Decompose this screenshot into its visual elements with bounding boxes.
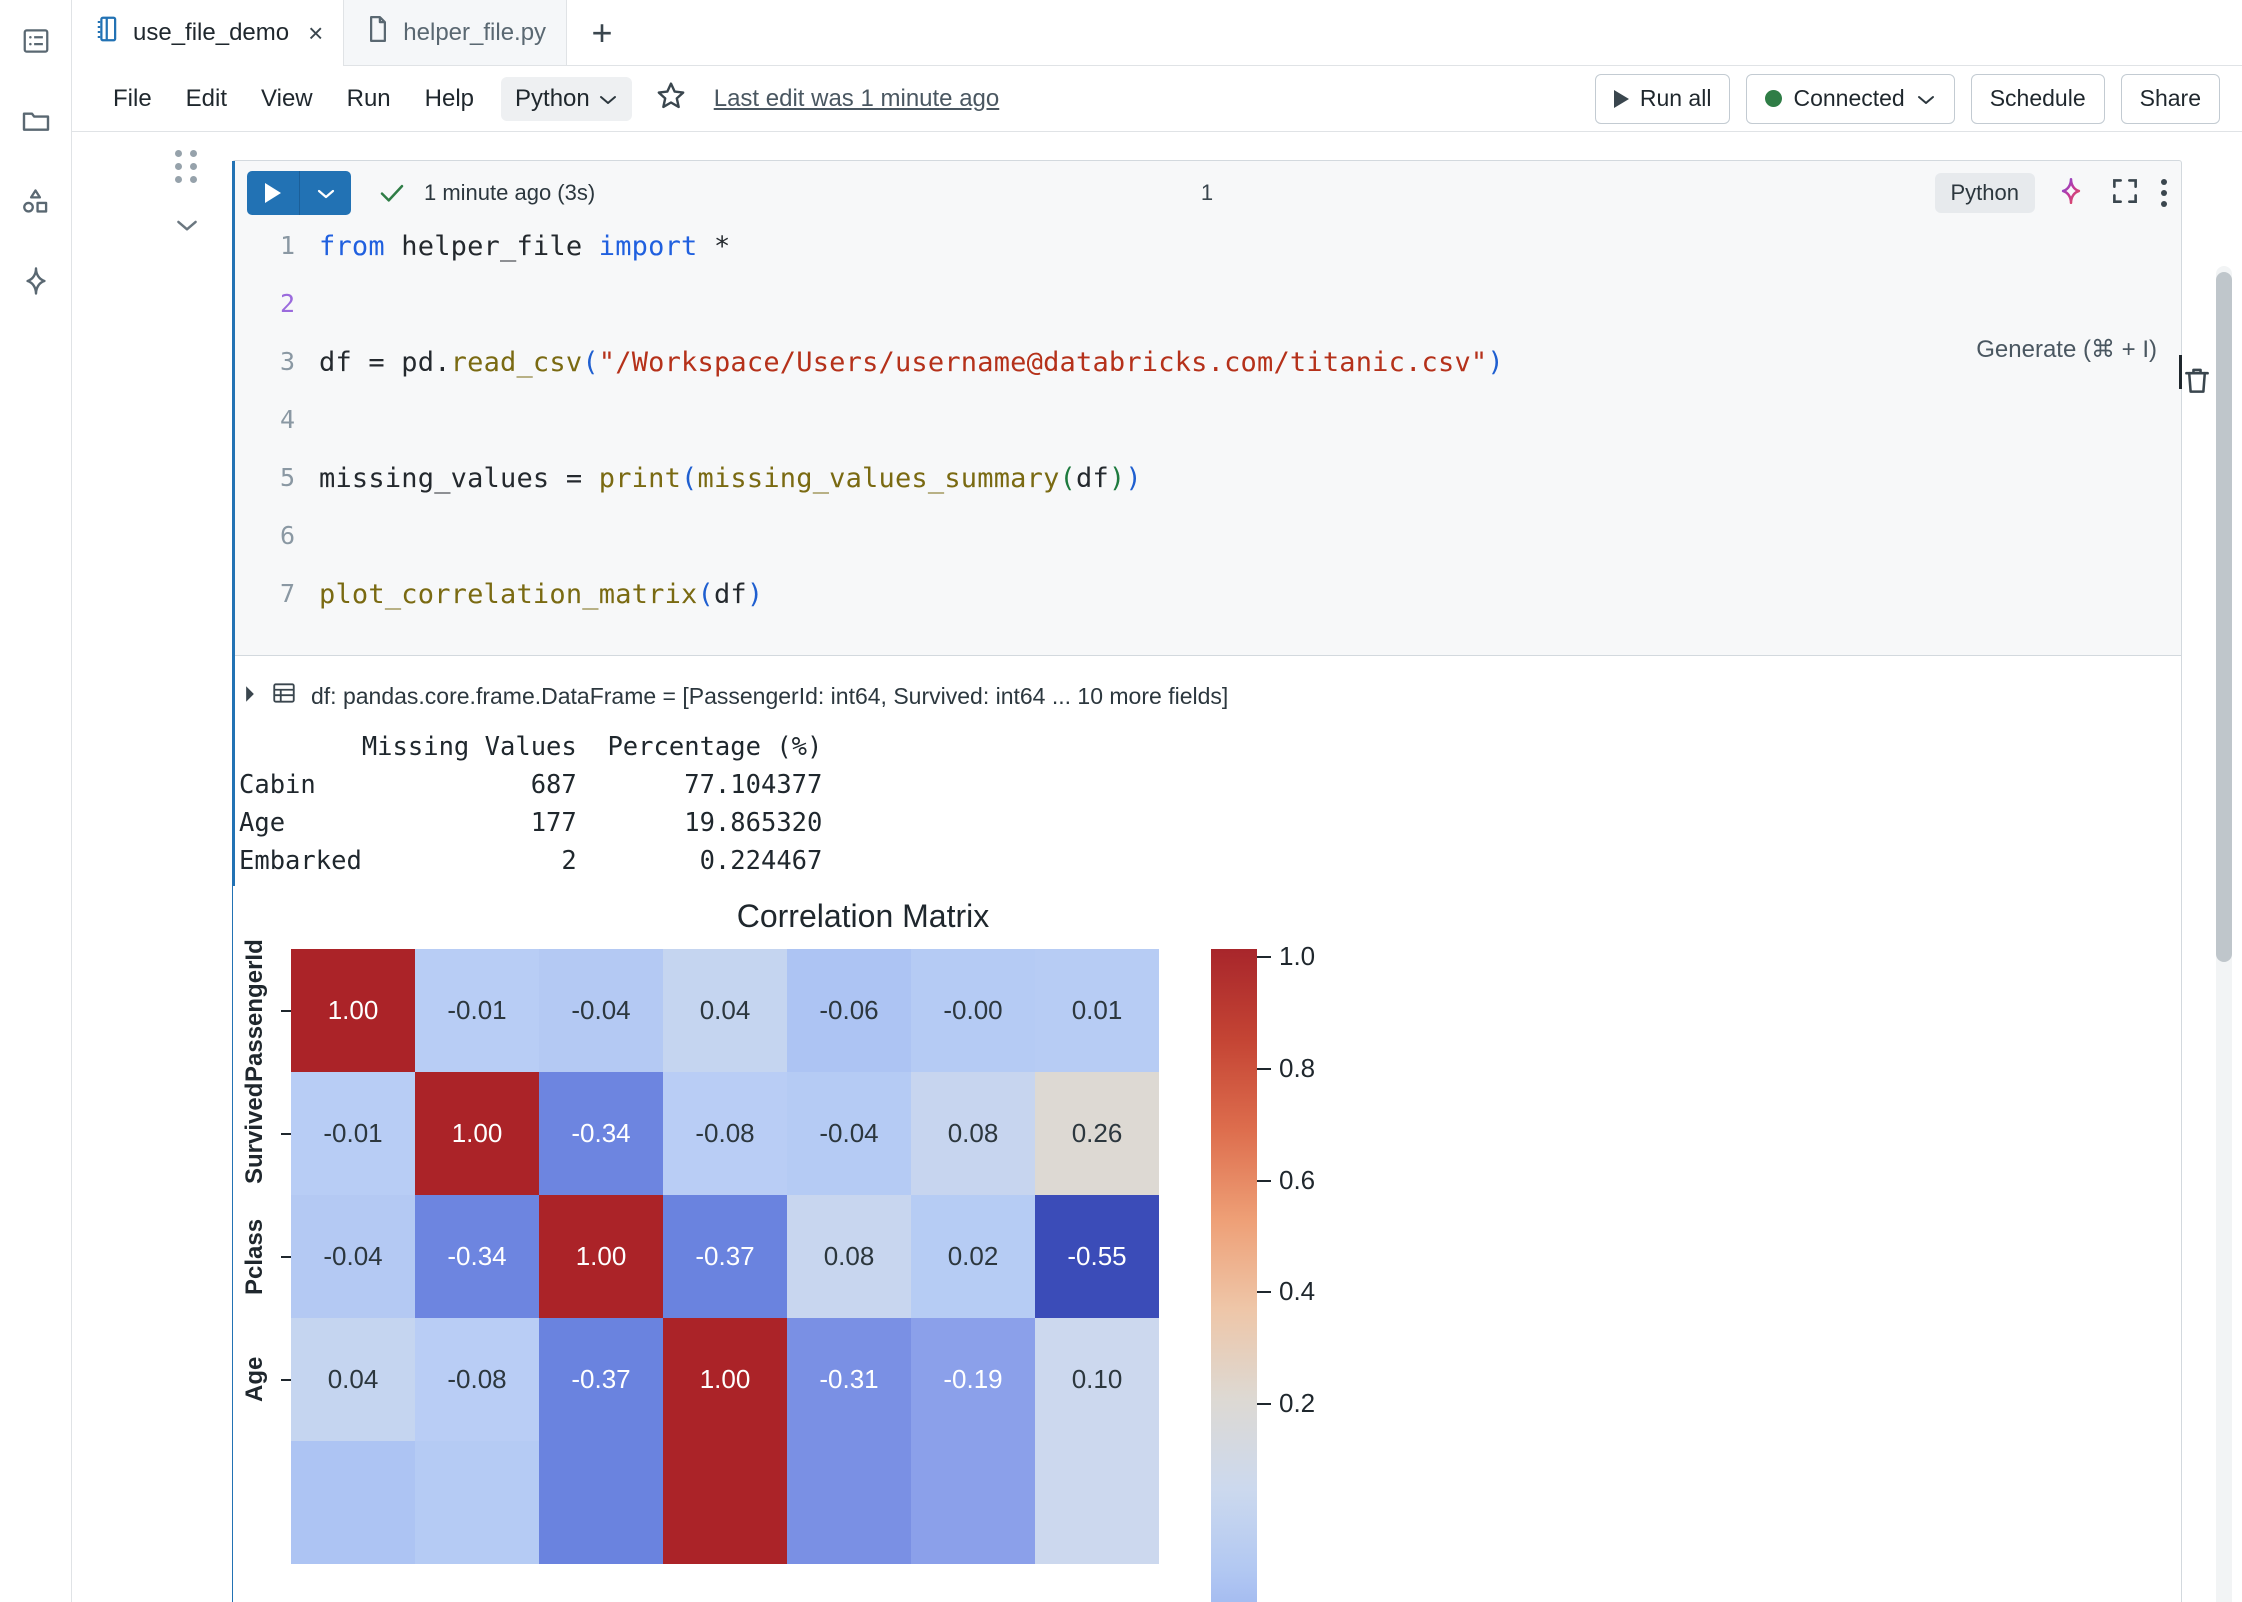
heatmap-cell: -0.00 [911,949,1035,1072]
colorbar-tick: 1.0 [1257,941,1315,972]
line-number: 4 [233,405,319,434]
share-label: Share [2140,85,2201,112]
workspace-list-icon [21,26,51,56]
heatmap-cell: 1.00 [539,1195,663,1318]
line-number: 7 [233,579,319,608]
heatmap-cell: -0.55 [1035,1195,1159,1318]
heatmap-cell: -0.04 [539,949,663,1072]
heatmap-cell: -0.01 [291,1072,415,1195]
colorbar-tick-label: 1.0 [1279,941,1315,972]
heatmap-cell-value: -0.04 [819,1118,878,1149]
cell-header: 1 minute ago (3s) 1 Python [233,161,2181,225]
heatmap-cell-value: -0.01 [323,1118,382,1149]
expand-cell-button[interactable] [2107,175,2143,211]
colorbar-wrapper: 1.0 0.8 0. [1211,949,1367,1602]
heatmap-cell: -0.34 [415,1195,539,1318]
success-check-icon [377,178,407,208]
heatmap-cell-value: 0.10 [1072,1364,1123,1395]
heatmap-cell-value: 1.00 [328,995,379,1026]
notebook-inner: 1 minute ago (3s) 1 Python [72,132,2242,1602]
heatmap-cell: -0.37 [663,1195,787,1318]
heatmap-cell: 0.01 [1035,949,1159,1072]
schedule-button[interactable]: Schedule [1971,74,2105,124]
line-number: 2 [233,289,319,318]
colorbar-tick: 0.4 [1257,1276,1315,1307]
y-tick-mark [281,1133,291,1135]
cell-output: df: pandas.core.frame.DataFrame = [Passe… [233,656,2181,1602]
rail-item-workspace[interactable] [13,18,59,64]
heatmap-cell-value: -0.34 [447,1241,506,1272]
colorbar-tick-mark [1257,1180,1271,1182]
tab-label: use_file_demo [133,19,289,47]
line-number: 5 [233,463,319,492]
run-options-button[interactable] [299,171,351,215]
assistant-sparkle-button[interactable] [2053,175,2089,211]
code-line: 4 [233,405,2181,463]
cell-more-menu-button[interactable] [2161,179,2167,207]
heatmap-cell: -0.34 [539,1072,663,1195]
colorbar-tick-label: 0.4 [1279,1276,1315,1307]
heatmap-cell: -0.08 [663,1072,787,1195]
colorbar-gradient [1211,949,1257,1602]
menu-file[interactable]: File [96,77,169,121]
menu-help[interactable]: Help [408,77,491,121]
heatmap-cell-value: 0.04 [700,995,751,1026]
heatmap-cell-value: -0.00 [943,995,1002,1026]
chart-title: Correlation Matrix [233,898,1493,935]
heatmap-cell: 0.10 [1035,1318,1159,1441]
tab-label: helper_file.py [403,19,546,47]
heatmap-cell-value: 1.00 [576,1241,627,1272]
tab-helper-file-py[interactable]: helper_file.py [344,0,567,65]
cell-wrapper: 1 minute ago (3s) 1 Python [72,160,2242,1602]
heatmap-cell: -0.08 [415,1318,539,1441]
rail-item-assistant[interactable] [13,258,59,304]
colorbar-tick-mark [1257,1403,1271,1405]
code-text: df = pd.read_csv("/Workspace/Users/usern… [319,347,1504,378]
heatmap-cell [539,1441,663,1564]
rail-item-catalog[interactable] [13,98,59,144]
heatmap-cell: 0.02 [911,1195,1035,1318]
heatmap-cell-value: -0.31 [819,1364,878,1395]
heatmap-cell-value: -0.01 [447,995,506,1026]
delete-cell-button[interactable] [2180,364,2214,403]
heatmap-cell: -0.06 [787,949,911,1072]
heatmap-cell: -0.31 [787,1318,911,1441]
heatmap-grid: 1.00 -0.01 -0.04 0.04 -0.06 -0.00 0.01 [291,949,1159,1564]
star-icon [654,79,688,118]
expand-caret-icon[interactable] [243,685,257,708]
heatmap-cell [1035,1441,1159,1564]
heatmap-cell: -0.01 [415,949,539,1072]
colorbar-ticks: 1.0 0.8 0. [1257,949,1367,1602]
heatmap-cell [415,1441,539,1564]
dataframe-summary-text: df: pandas.core.frame.DataFrame = [Passe… [311,683,1228,710]
colorbar-tick-mark [1257,956,1271,958]
heatmap-cell-value: 0.04 [328,1364,379,1395]
databricks-notebook-window: use_file_demo × helper_file.py + File Ed… [0,0,2242,1602]
close-icon[interactable]: × [308,20,323,46]
run-all-button[interactable]: Run all [1595,74,1731,124]
last-edit-link[interactable]: Last edit was 1 minute ago [714,85,1000,113]
heatmap-cell: 1.00 [663,1318,787,1441]
main-area: use_file_demo × helper_file.py + File Ed… [72,0,2242,1602]
cluster-selector[interactable]: Connected [1746,74,1954,124]
menu-bar: File Edit View Run Help Python Last edit… [72,66,2242,132]
code-line: 3 df = pd.read_csv("/Workspace/Users/use… [233,347,2181,405]
menu-edit[interactable]: Edit [169,77,244,121]
heatmap-cell [787,1441,911,1564]
heatmap-cell: 0.08 [787,1195,911,1318]
y-tick-mark [281,1379,291,1381]
folder-icon [20,105,52,137]
heatmap-cell-value: -0.37 [571,1364,630,1395]
language-label: Python [515,85,590,113]
code-text: from helper_file import * [319,231,730,262]
left-rail [0,0,72,1602]
code-text: plot_correlation_matrix(df) [319,579,763,610]
heatmap-cell: -0.19 [911,1318,1035,1441]
heatmap-cell-value: -0.08 [447,1364,506,1395]
y-tick-mark [281,1010,291,1012]
expand-icon [2110,176,2140,211]
heatmap-cell [291,1441,415,1564]
heatmap-cell: 0.04 [663,949,787,1072]
code-line: 5 missing_values = print(missing_values_… [233,463,2181,521]
status-dot-icon [1765,90,1782,107]
play-icon [265,183,281,203]
code-line: 6 [233,521,2181,579]
run-cell-group [247,171,351,215]
correlation-matrix-chart: Correlation Matrix PassengerId Survived … [233,886,2181,1602]
heatmap-cell-value: 0.08 [824,1241,875,1272]
run-cell-button[interactable] [247,171,299,215]
heatmap-cell-value: -0.04 [571,995,630,1026]
y-tick-label: Age [233,1318,277,1441]
heatmap-cell-value: -0.08 [695,1118,754,1149]
y-tick-mark [281,1256,291,1258]
colorbar-tick-mark [1257,1068,1271,1070]
code-line: 2 [233,289,2181,347]
new-tab-button[interactable]: + [567,0,637,65]
menu-view[interactable]: View [244,77,330,121]
line-number: 3 [233,347,319,376]
tab-strip: use_file_demo × helper_file.py + [72,0,2242,66]
heatmap-cell: -0.04 [291,1195,415,1318]
colorbar-tick: 0.2 [1257,1388,1315,1419]
cell-status-text: 1 minute ago (3s) [424,180,595,206]
heatmap-wrapper: PassengerId Survived Pclass Age [233,949,2181,1602]
code-text: missing_values = print(missing_values_su… [319,463,1142,494]
heatmap-cell [911,1441,1035,1564]
heatmap-cell: 0.08 [911,1072,1035,1195]
file-icon [366,14,390,51]
vertical-scrollbar-thumb[interactable] [2216,272,2232,962]
heatmap-cell: -0.04 [787,1072,911,1195]
table-icon [271,680,297,712]
heatmap-cell: -0.37 [539,1318,663,1441]
y-tick-label: Survived [233,1072,277,1195]
colorbar-tick: 0.8 [1257,1053,1315,1084]
heatmap-cell-value: -0.37 [695,1241,754,1272]
colorbar-tick-mark [1257,1291,1271,1293]
favorite-button[interactable] [654,79,688,118]
heatmap-cell-value: -0.55 [1067,1241,1126,1272]
chevron-down-icon [1916,85,1936,112]
heatmap-cell-value: -0.04 [323,1241,382,1272]
code-editor[interactable]: Generate (⌘ + I) 1 from helper_file impo… [233,225,2181,655]
cell-header-actions: Python [1935,173,2168,213]
play-icon [1614,90,1629,108]
heatmap-cell-value: 0.01 [1072,995,1123,1026]
heatmap-cell-value: 0.26 [1072,1118,1123,1149]
code-line: 1 from helper_file import * [233,231,2181,289]
notebook-icon [94,14,120,51]
run-all-label: Run all [1640,85,1712,112]
generate-hint-label[interactable]: Generate (⌘ + I) [1976,335,2157,364]
cell-language-chip[interactable]: Python [1935,173,2036,213]
colorbar-tick-label: 0.6 [1279,1165,1315,1196]
notebook-canvas: 1 minute ago (3s) 1 Python [72,132,2242,1602]
tab-use-file-demo[interactable]: use_file_demo × [72,0,344,65]
colorbar-tick-label: 0.8 [1279,1053,1315,1084]
vertical-scrollbar-track[interactable] [2216,266,2232,1602]
y-tick-label: PassengerId [233,949,277,1072]
menu-run[interactable]: Run [330,77,408,121]
heatmap-cell: 1.00 [291,949,415,1072]
heatmap-cell-value: -0.19 [943,1364,1002,1395]
heatmap-cell-value: 1.00 [452,1118,503,1149]
rail-item-experiments[interactable] [13,178,59,224]
line-number: 6 [233,521,319,550]
stdout-text: Missing Values Percentage (%) Cabin 687 … [233,722,2181,886]
heatmap-cell [663,1441,787,1564]
line-number: 1 [233,231,319,260]
chevron-down-icon [598,85,618,113]
heatmap-cell: 0.04 [291,1318,415,1441]
heatmap-cell-value: 1.00 [700,1364,751,1395]
heatmap-cell-value: 0.02 [948,1241,999,1272]
notebook-cell[interactable]: 1 minute ago (3s) 1 Python [232,160,2182,1602]
heatmap-cell-value: -0.34 [571,1118,630,1149]
heatmap-cell: 1.00 [415,1072,539,1195]
shapes-icon [20,186,51,217]
colorbar-tick: 0.6 [1257,1165,1315,1196]
cluster-label: Connected [1793,85,1904,112]
sparkle-icon [2055,175,2087,212]
y-tick-label: Pclass [233,1195,277,1318]
heatmap-cell-value: 0.08 [948,1118,999,1149]
schedule-label: Schedule [1990,85,2086,112]
heatmap-cell: 0.26 [1035,1072,1159,1195]
colorbar-tick-label: 0.2 [1279,1388,1315,1419]
language-selector[interactable]: Python [501,77,632,121]
dataframe-summary-row[interactable]: df: pandas.core.frame.DataFrame = [Passe… [233,670,2181,722]
share-button[interactable]: Share [2121,74,2220,124]
trash-icon [2180,385,2214,402]
code-line: 7 plot_correlation_matrix(df) [233,579,2181,637]
heatmap-cell-value: -0.06 [819,995,878,1026]
sparkle-icon [20,265,52,297]
